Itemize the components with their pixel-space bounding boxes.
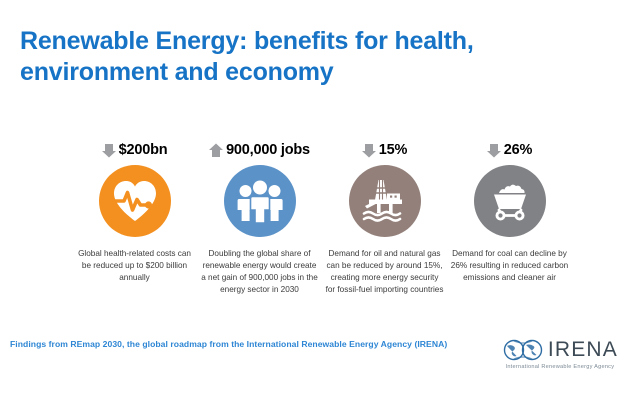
stat-caption: Doubling the global share of renewable e… (201, 248, 319, 296)
stat-icon-circle-coal (474, 165, 546, 237)
statistics-row: $200bn Global health-related costs can b… (72, 141, 572, 296)
arrow-down-icon (362, 143, 376, 158)
page-title: Renewable Energy: benefits for health, e… (20, 26, 490, 87)
stat-icon-circle-health (99, 165, 171, 237)
stat-icon-circle-oil-gas (349, 165, 421, 237)
stat-header: $200bn (102, 141, 168, 159)
irena-logo: IRENA International Renewable Energy Age… (502, 338, 618, 370)
irena-wordmark: IRENA (548, 338, 618, 362)
stat-header: 26% (487, 141, 532, 159)
irena-logo-main: IRENA (502, 338, 618, 362)
stat-caption: Demand for oil and natural gas can be re… (326, 248, 444, 296)
stat-icon-circle-jobs (224, 165, 296, 237)
heart-pulse-icon (112, 179, 158, 223)
footer-source-note: Findings from REmap 2030, the global roa… (10, 339, 447, 349)
stat-value: 900,000 jobs (226, 142, 310, 158)
irena-globe-infinity-icon (502, 338, 544, 362)
stat-card-oil-gas: 15% D (322, 141, 447, 296)
stat-value: 15% (379, 142, 407, 158)
stat-caption: Global health-related costs can be reduc… (76, 248, 194, 284)
arrow-up-icon (209, 143, 223, 158)
arrow-down-icon (102, 143, 116, 158)
stat-card-coal: 26% Demand for coal can decline by 26% r… (447, 141, 572, 284)
stat-value: $200bn (119, 142, 168, 158)
coal-cart-icon (486, 179, 534, 223)
stat-value: 26% (504, 142, 532, 158)
oil-rig-icon (361, 178, 409, 224)
people-group-icon (236, 179, 284, 223)
stat-card-jobs: 900,000 jobs Doubling the global share o… (197, 141, 322, 296)
stat-header: 900,000 jobs (209, 141, 310, 159)
irena-tagline: International Renewable Energy Agency (506, 364, 615, 370)
stat-header: 15% (362, 141, 407, 159)
stat-caption: Demand for coal can decline by 26% resul… (451, 248, 569, 284)
stat-card-health: $200bn Global health-related costs can b… (72, 141, 197, 284)
arrow-down-icon (487, 143, 501, 158)
